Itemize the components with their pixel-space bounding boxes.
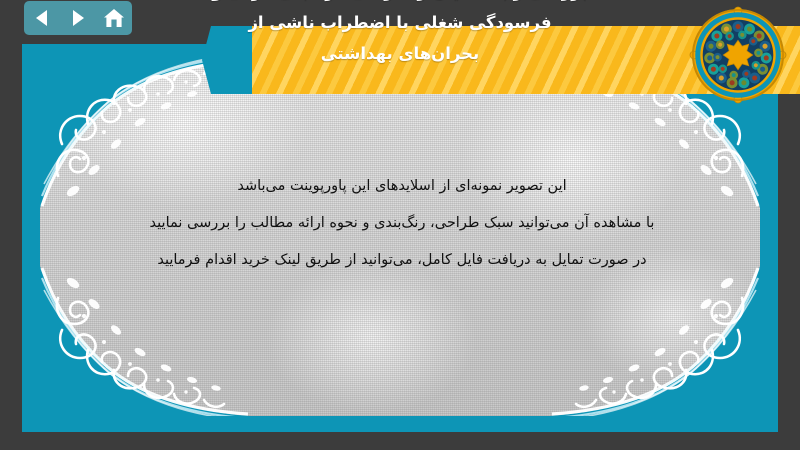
back-button[interactable] (28, 5, 56, 31)
body-line-3: در صورت تمایل به دریافت فایل کامل، می‌تو… (62, 242, 742, 279)
navigation-bar (24, 1, 132, 35)
body-line-1: این تصویر نمونه‌ای از اسلایدهای این پاور… (62, 168, 742, 205)
home-icon (103, 8, 125, 29)
banner-arrow-tab (202, 26, 252, 94)
home-button[interactable] (100, 5, 128, 31)
slide-viewer: این تصویر نمونه‌ای از اسلایدهای این پاور… (0, 0, 800, 450)
slide-frame: این تصویر نمونه‌ای از اسلایدهای این پاور… (22, 42, 778, 432)
triangle-left-icon (33, 8, 51, 28)
body-line-2: با مشاهده آن می‌توانید سبک طراحی، رنگ‌بن… (62, 205, 742, 242)
triangle-right-icon (69, 8, 87, 28)
forward-button[interactable] (64, 5, 92, 31)
circular-mandala-medallion-icon (689, 6, 787, 104)
slide-body-text: این تصویر نمونه‌ای از اسلایدهای این پاور… (62, 168, 742, 279)
